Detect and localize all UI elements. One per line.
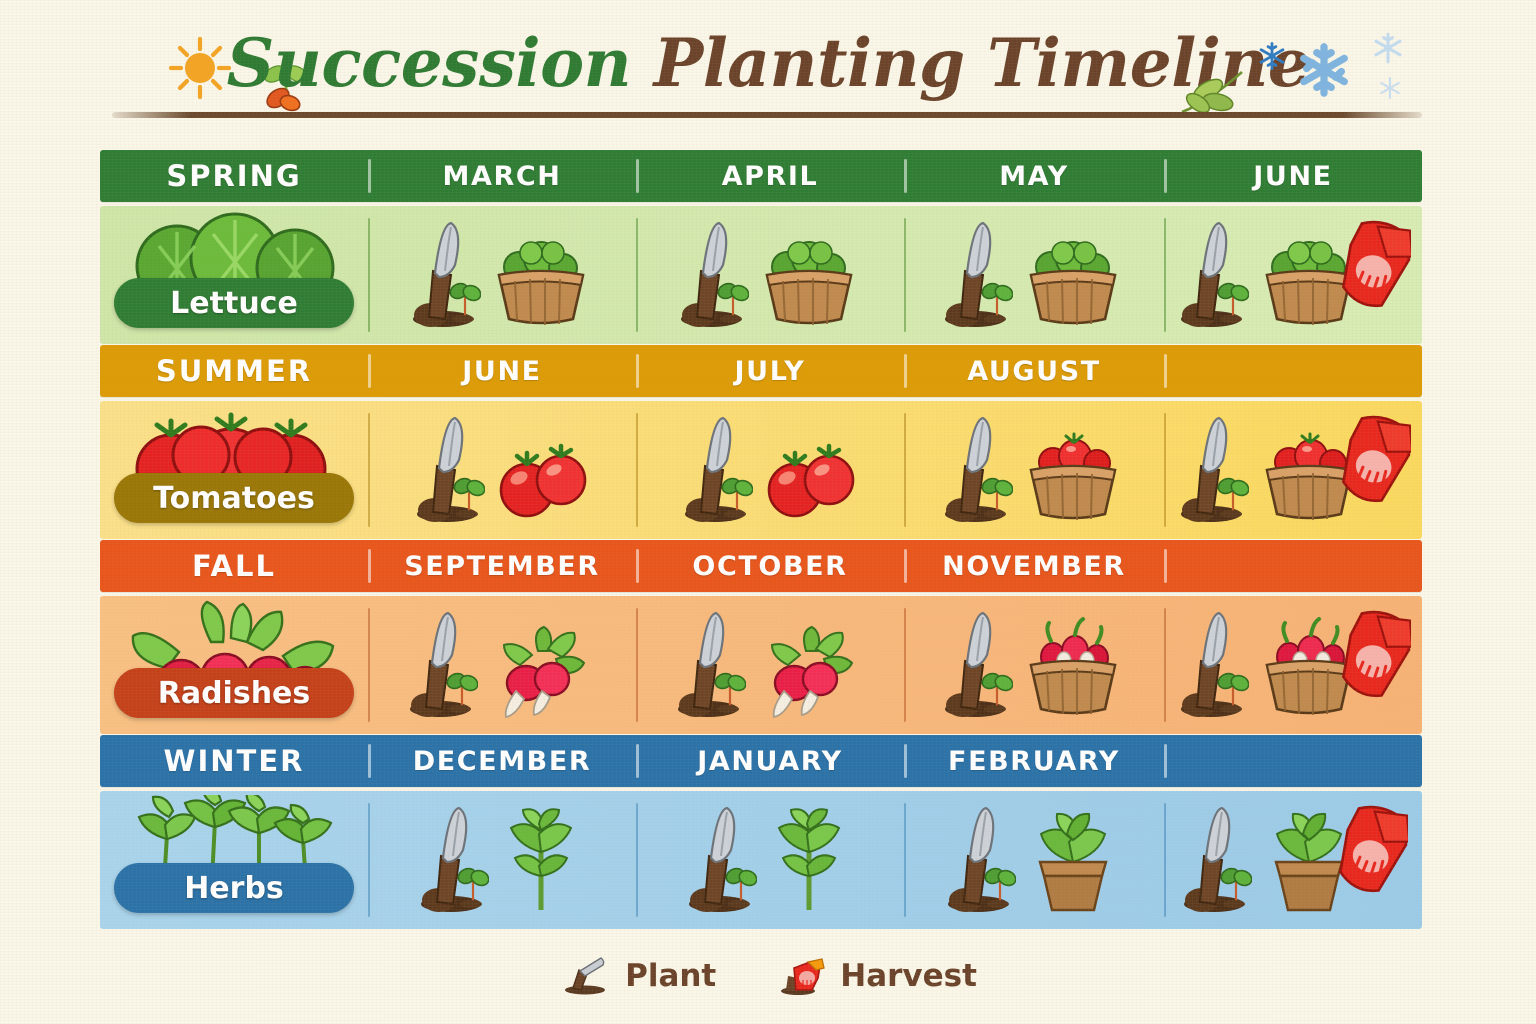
month-header-empty	[1164, 540, 1422, 592]
plant-trowel-icon	[939, 414, 1013, 530]
season-header-fall: FALLSEPTEMBEROCTOBERNOVEMBER	[100, 540, 1422, 592]
harvest-basket-icon	[485, 223, 597, 331]
tomato-pair-icon	[757, 428, 861, 530]
month-label: JUNE	[462, 356, 541, 387]
month-header-april: APRIL	[636, 150, 904, 202]
plant-trowel-icon	[675, 219, 749, 335]
plant-trowel-icon	[415, 804, 489, 920]
timeline-cell-winter-last[interactable]	[1164, 791, 1422, 929]
season-name-cell: FALL	[100, 540, 368, 592]
plant-trowel-icon	[683, 804, 757, 916]
season-body-winter: Herbs	[100, 791, 1422, 929]
herb-leaf-icon	[493, 806, 589, 916]
tomato-pair-icon	[489, 428, 593, 530]
season-row-spring: SPRINGMARCHAPRILMAYJUNE Lettuce	[100, 150, 1422, 344]
plant-trowel-icon	[1175, 219, 1249, 331]
timeline-cell-spring-june[interactable]	[1164, 206, 1422, 344]
plant-trowel-icon	[559, 956, 611, 996]
harvest-basket-radish-icon	[1017, 613, 1129, 725]
month-label: JANUARY	[697, 746, 843, 777]
season-name-cell: WINTER	[100, 735, 368, 787]
radish-pair-icon	[482, 625, 600, 721]
month-label: MARCH	[443, 161, 562, 192]
legend-item-plant: Plant	[559, 956, 716, 996]
legend: Plant Harvest	[0, 948, 1536, 1004]
plant-trowel-icon	[1175, 414, 1249, 526]
timeline-cell-spring-march[interactable]	[368, 206, 636, 344]
month-header-august: AUGUST	[904, 345, 1164, 397]
plant-trowel-icon	[1178, 804, 1252, 916]
title-part-green: Succession	[227, 24, 654, 102]
crop-cell-lettuce: Lettuce	[100, 206, 368, 344]
harvest-glove-icon	[1332, 804, 1408, 912]
plant-trowel-icon	[404, 609, 478, 725]
season-body-spring: Lettuce	[100, 206, 1422, 344]
harvest-glove-icon	[774, 956, 826, 996]
month-header-empty	[1164, 735, 1422, 787]
cell-icons	[411, 410, 593, 530]
month-header-empty	[1164, 345, 1422, 397]
month-label: SEPTEMBER	[404, 551, 600, 582]
plant-trowel-icon	[1178, 804, 1252, 920]
timeline-cell-fall-last[interactable]	[1164, 596, 1422, 734]
cell-icons	[679, 410, 861, 530]
month-header-july: JULY	[636, 345, 904, 397]
title-underline	[112, 112, 1422, 118]
plant-trowel-icon	[1175, 609, 1249, 725]
harvest-glove-icon	[1332, 804, 1408, 908]
harvest-basket-icon	[1017, 223, 1129, 331]
month-label: JUNE	[1253, 161, 1332, 192]
plant-trowel-icon	[415, 804, 489, 916]
season-name-label: WINTER	[164, 744, 305, 778]
harvest-basket-lettuce-icon	[753, 223, 865, 335]
harvest-basket-icon	[753, 223, 865, 331]
month-header-january: JANUARY	[636, 735, 904, 787]
season-name-label: SUMMER	[156, 354, 312, 388]
plant-trowel-icon	[679, 414, 753, 530]
season-row-winter: WINTERDECEMBERJANUARYFEBRUARY Herbs	[100, 735, 1422, 929]
month-label: DECEMBER	[413, 746, 592, 777]
harvest-basket-icon	[1017, 418, 1129, 526]
plant-trowel-icon	[939, 219, 1013, 331]
season-header-spring: SPRINGMARCHAPRILMAYJUNE	[100, 150, 1422, 202]
season-name-cell: SPRING	[100, 150, 368, 202]
timeline-cell-summer-last[interactable]	[1164, 401, 1422, 539]
plant-trowel-icon	[683, 804, 757, 920]
plant-trowel-icon	[942, 804, 1016, 920]
harvest-glove-icon	[1335, 219, 1411, 327]
month-label: JULY	[735, 356, 806, 387]
plant-trowel-icon	[939, 414, 1013, 526]
season-name-label: FALL	[192, 549, 276, 583]
month-header-june: JUNE	[368, 345, 636, 397]
harvest-glove-icon	[1335, 609, 1411, 717]
cell-icons	[672, 605, 868, 725]
cell-icons	[404, 605, 600, 725]
month-label: AUGUST	[967, 356, 1101, 387]
month-label: NOVEMBER	[942, 551, 1126, 582]
legend-label-plant: Plant	[625, 958, 716, 994]
cell-icons	[683, 800, 857, 920]
herb-pot-icon	[1020, 804, 1126, 920]
month-header-november: NOVEMBER	[904, 540, 1164, 592]
crop-cell-herbs: Herbs	[100, 791, 368, 929]
season-header-winter: WINTERDECEMBERJANUARYFEBRUARY	[100, 735, 1422, 787]
title-bar: Succession Planting Timeline	[0, 0, 1536, 140]
season-name-cell: SUMMER	[100, 345, 368, 397]
tomato-pair-icon	[757, 428, 861, 526]
plant-trowel-icon	[407, 219, 481, 335]
month-header-december: DECEMBER	[368, 735, 636, 787]
harvest-glove-icon	[1335, 609, 1411, 713]
snowflake-icon	[1250, 26, 1430, 116]
plant-trowel-icon	[679, 414, 753, 526]
legend-label-harvest: Harvest	[840, 958, 977, 994]
month-label: FEBRUARY	[948, 746, 1120, 777]
timeline-cell-winter-february[interactable]	[904, 791, 1164, 929]
harvest-basket-lettuce-icon	[485, 223, 597, 335]
plant-trowel-icon	[942, 804, 1016, 916]
cell-icons	[942, 800, 1126, 920]
season-header-summer: SUMMERJUNEJULYAUGUST	[100, 345, 1422, 397]
timeline-cell-winter-january[interactable]	[636, 791, 904, 929]
timeline-cell-summer-august[interactable]	[904, 401, 1164, 539]
cell-icons	[1178, 800, 1408, 920]
cell-icons	[1175, 605, 1411, 725]
radish-pair-icon	[750, 625, 868, 721]
harvest-basket-tomato-icon	[1017, 418, 1129, 530]
month-label: OCTOBER	[692, 551, 847, 582]
herb-leaf-icon	[761, 806, 857, 916]
month-header-february: FEBRUARY	[904, 735, 1164, 787]
harvest-glove-icon	[1335, 414, 1411, 522]
plant-trowel-icon	[411, 414, 485, 526]
crop-badge[interactable]: Tomatoes	[114, 473, 354, 523]
plant-trowel-icon	[939, 219, 1013, 335]
plant-trowel-icon	[675, 219, 749, 331]
crop-badge[interactable]: Lettuce	[114, 278, 354, 328]
month-header-march: MARCH	[368, 150, 636, 202]
plant-trowel-icon	[1175, 219, 1249, 335]
plant-trowel-icon	[1175, 609, 1249, 721]
season-row-summer: SUMMERJUNEJULYAUGUST Tomatoes	[100, 345, 1422, 539]
plant-trowel-icon	[404, 609, 478, 721]
timeline-cell-summer-july[interactable]	[636, 401, 904, 539]
month-header-june: JUNE	[1164, 150, 1422, 202]
cell-icons	[939, 410, 1129, 530]
harvest-basket-lettuce-icon	[1017, 223, 1129, 335]
crop-badge[interactable]: Herbs	[114, 863, 354, 913]
cell-icons	[1175, 410, 1411, 530]
timeline-cell-winter-december[interactable]	[368, 791, 636, 929]
herb-pot-icon	[1020, 804, 1126, 916]
cell-icons	[939, 605, 1129, 725]
season-row-fall: FALLSEPTEMBEROCTOBERNOVEMBER Radishes	[100, 540, 1422, 734]
leaf-sprig-icon	[1178, 62, 1252, 116]
plant-trowel-icon	[1175, 414, 1249, 530]
timeline-cell-fall-september[interactable]	[368, 596, 636, 734]
cell-icons	[407, 215, 597, 335]
month-header-september: SEPTEMBER	[368, 540, 636, 592]
season-body-fall: Radishes	[100, 596, 1422, 734]
month-header-october: OCTOBER	[636, 540, 904, 592]
timeline-cell-spring-may[interactable]	[904, 206, 1164, 344]
plant-trowel-icon	[939, 609, 1013, 725]
crop-cell-radishes: Radishes	[100, 596, 368, 734]
tomato-pair-icon	[489, 428, 593, 526]
plant-trowel-icon	[672, 609, 746, 721]
month-label: APRIL	[722, 161, 819, 192]
crop-cell-tomatoes: Tomatoes	[100, 401, 368, 539]
legend-item-harvest: Harvest	[774, 956, 977, 996]
month-label: MAY	[999, 161, 1069, 192]
plant-trowel-icon	[407, 219, 481, 331]
radish-pair-icon	[482, 625, 600, 725]
plant-trowel-icon	[411, 414, 485, 530]
cell-icons	[939, 215, 1129, 335]
timeline-cell-summer-june[interactable]	[368, 401, 636, 539]
herb-leaf-icon	[493, 806, 589, 920]
harvest-glove-icon	[1335, 219, 1411, 323]
timeline-cell-spring-april[interactable]	[636, 206, 904, 344]
timeline-cell-fall-october[interactable]	[636, 596, 904, 734]
radish-pair-icon	[750, 625, 868, 725]
season-body-summer: Tomatoes	[100, 401, 1422, 539]
crop-badge[interactable]: Radishes	[114, 668, 354, 718]
cell-icons	[675, 215, 865, 335]
herb-leaf-icon	[761, 806, 857, 920]
plant-trowel-icon	[672, 609, 746, 725]
timeline-cell-fall-november[interactable]	[904, 596, 1164, 734]
season-name-label: SPRING	[166, 159, 301, 193]
harvest-basket-icon	[1017, 613, 1129, 721]
month-header-may: MAY	[904, 150, 1164, 202]
harvest-glove-icon	[1335, 414, 1411, 518]
cell-icons	[415, 800, 589, 920]
plant-trowel-icon	[939, 609, 1013, 721]
cell-icons	[1175, 215, 1411, 335]
infographic-board: Succession Planting Timeline	[0, 0, 1536, 1024]
